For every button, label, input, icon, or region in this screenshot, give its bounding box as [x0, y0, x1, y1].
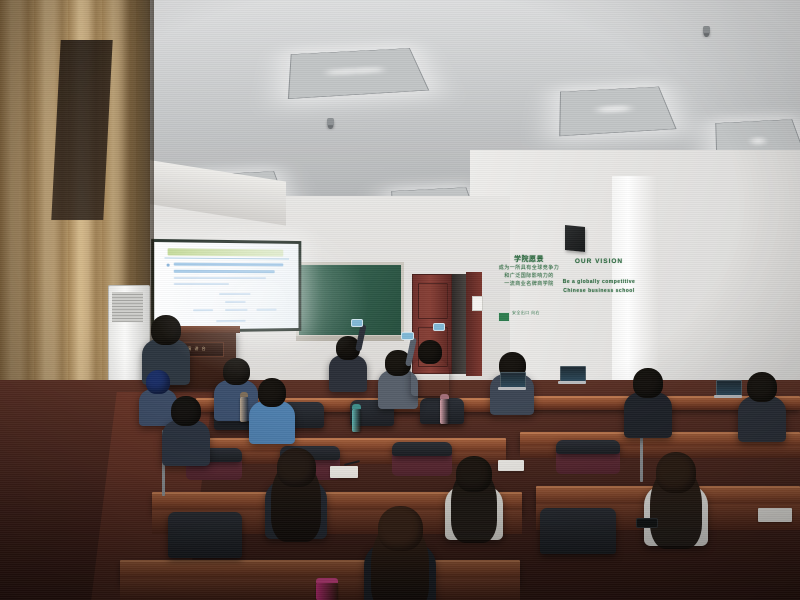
exit-sign-icon [498, 312, 510, 322]
slide-figure-label-2 [225, 301, 245, 303]
seat-c2 [540, 508, 616, 554]
slide-figure-label-5 [257, 309, 277, 311]
attendee-right-tracksuit-torso [624, 392, 672, 438]
air-conditioner-vent-icon [112, 292, 143, 322]
attendee-longhair-front [378, 506, 423, 600]
exit-sign-label: 安全出口 向右 [512, 310, 540, 316]
attendee-white-jacket-head [656, 452, 697, 493]
vision-line-cn-2: 和广泛国际影响力的 [496, 272, 562, 280]
attendee-row3-c [258, 378, 287, 450]
bottle-teal-cap [352, 404, 361, 409]
attendee-row3-a-head [171, 396, 201, 426]
light-panel-2 [559, 87, 676, 137]
light-panel-1 [288, 48, 429, 99]
phone-on-desk[interactable] [636, 518, 658, 528]
slide-figure-label-4 [225, 309, 248, 311]
attendee-photographer-3-smartphone[interactable] [433, 323, 445, 331]
attendee-right-tracksuit-head [633, 368, 663, 398]
attendee-row3-c-torso [249, 401, 295, 445]
attendee-photographer-1 [336, 336, 360, 397]
vision-line-en-2: Chinese business school [560, 287, 638, 296]
attendee-cap-blue-head [146, 370, 170, 394]
bottle-pink-tall-cap [440, 394, 449, 399]
bottle-thermos-silver-cap [240, 392, 248, 397]
lecture-hall-photo: 学院愿景 成为一所具有全球竞争力 和广泛国际影响力的 一流商业名牌商学院 OUR… [0, 0, 800, 600]
vision-heading-chinese: 学院愿景 [496, 255, 562, 264]
attendee-right-tracksuit [633, 368, 663, 444]
vision-line-cn-1: 成为一所具有全球竞争力 [496, 264, 562, 272]
attendee-row3-a-torso [162, 420, 210, 466]
attendee-photographer-3-torso [411, 359, 449, 396]
slide-divider-rule [165, 258, 289, 260]
vision-line-en-1: Be a globally competitive [560, 278, 638, 287]
notebook-right [498, 460, 524, 471]
notebook-center [330, 466, 358, 478]
attendee-white-jacket [656, 452, 697, 555]
attendee-photographer-2 [385, 350, 411, 415]
slide-body-line-4 [174, 282, 230, 284]
door-inset-upper [418, 283, 448, 319]
attendee-photographer-2-smartphone[interactable] [401, 332, 414, 341]
slide-figure-label-1 [219, 293, 251, 295]
blackboard [296, 262, 404, 338]
light-panel-1-lamp-2 [348, 71, 362, 72]
vision-line-cn-3: 一流商业名牌商学院 [496, 280, 562, 288]
attendee-photographer-1-smartphone[interactable] [351, 319, 363, 327]
door-notice-sheet [472, 296, 483, 311]
notebook-far-right [758, 508, 792, 522]
bottle-pink-tall[interactable] [440, 398, 449, 424]
bottle-pink-foreground[interactable] [316, 582, 338, 600]
slide-body-line-2 [174, 269, 275, 272]
attendee-row3-c-head [258, 378, 287, 407]
vision-heading-english: OUR VISION [560, 257, 638, 266]
slide-bullet-1 [166, 263, 169, 266]
attendee-white-hoodie [456, 456, 492, 547]
seat-b3-top [392, 442, 452, 456]
slide-title-band [168, 248, 284, 256]
sprinkler-2-icon [703, 26, 710, 35]
wall-speaker-icon [565, 225, 585, 252]
slide-figure-label-3 [193, 309, 214, 311]
door-leaf-edge [466, 272, 482, 376]
attendee-photographer-1-torso [329, 355, 367, 392]
attendee-longhair-front-head [378, 506, 423, 551]
attendee-cap-blue [146, 370, 170, 431]
slide-footer-label [216, 319, 245, 321]
light-panel-1-lamp-1 [331, 72, 345, 73]
presenter-head [151, 315, 181, 345]
light-panel-1-lamp-3 [365, 70, 379, 71]
attendee-far-right [747, 372, 777, 448]
seat-b4-top [556, 440, 620, 454]
attendee-longhair-center-head [277, 448, 316, 487]
attendee-row3-a [171, 396, 201, 472]
bottle-teal[interactable] [352, 408, 361, 432]
laptop-base-3 [714, 395, 742, 398]
sprinkler-1-icon [327, 118, 334, 127]
attendee-far-right-head [747, 372, 777, 402]
attendee-far-right-torso [738, 396, 786, 442]
bottle-thermos-silver[interactable] [240, 396, 248, 422]
attendee-longhair-center [277, 448, 316, 547]
attendee-white-hoodie-head [456, 456, 492, 492]
bottle-pink-foreground-cap [316, 578, 338, 583]
laptop-base-1 [498, 387, 526, 390]
attendee-row3-b-head [223, 358, 250, 385]
attendee-photographer-3 [418, 340, 442, 401]
vision-statement-english: OUR VISION Be a globally competitive Chi… [560, 257, 638, 296]
vision-statement-chinese: 学院愿景 成为一所具有全球竞争力 和广泛国际影响力的 一流商业名牌商学院 [496, 255, 562, 288]
slide-body-line-3 [174, 276, 267, 278]
seat-c1 [168, 512, 242, 558]
laptop-base-2 [558, 381, 586, 384]
slide-body-line-1 [174, 262, 284, 266]
